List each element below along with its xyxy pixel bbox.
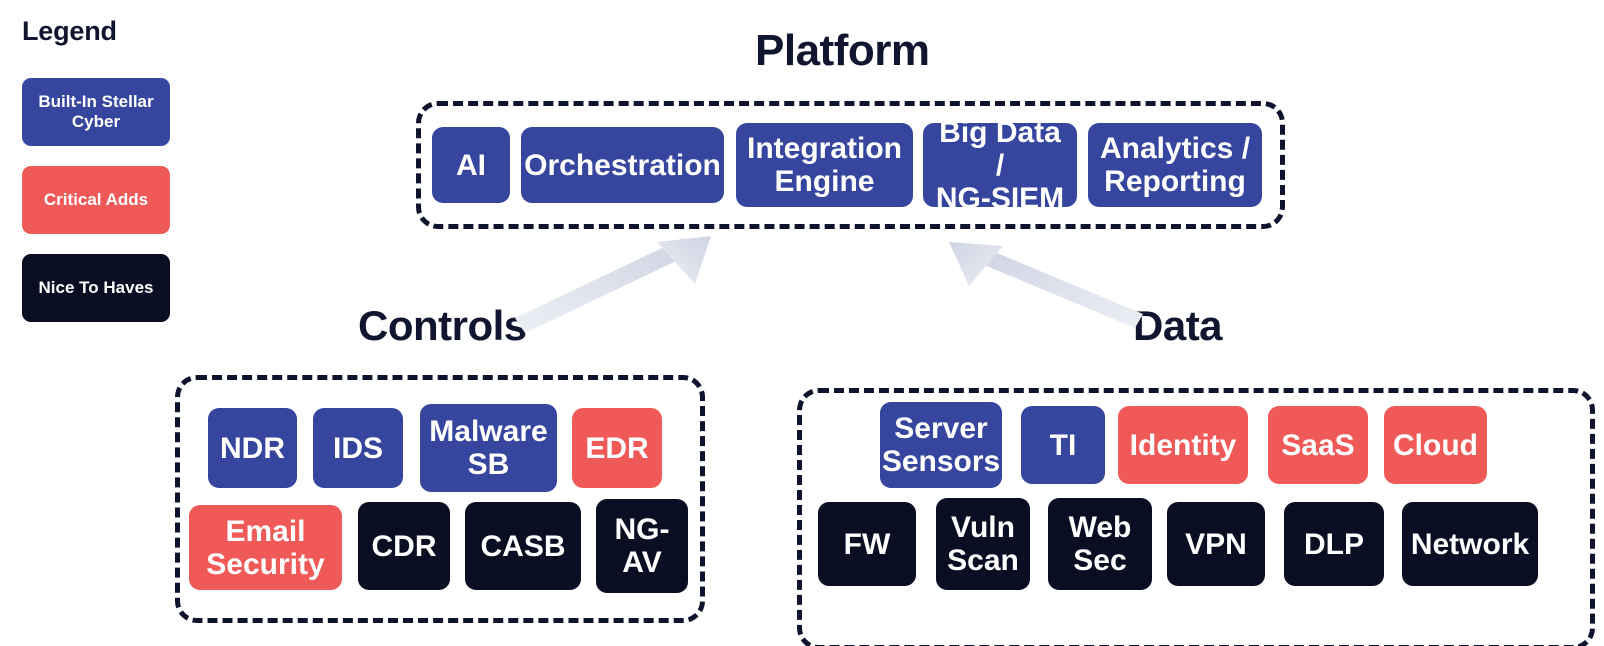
platform-box-orchestration[interactable]: Orchestration	[521, 127, 724, 203]
data-box-server-sensors[interactable]: Server Sensors	[880, 402, 1002, 488]
controls-box-casb[interactable]: CASB	[465, 502, 581, 590]
arrow-controls-to-platform	[515, 236, 715, 336]
data-box-fw[interactable]: FW	[818, 502, 916, 586]
diagram-canvas: Legend Built-In Stellar Cyber Critical A…	[0, 0, 1604, 646]
legend-item-critical-adds: Critical Adds	[22, 166, 170, 234]
data-box-dlp[interactable]: DLP	[1284, 502, 1384, 586]
legend-item-built-in-stellar-cyber: Built-In Stellar Cyber	[22, 78, 170, 146]
data-box-vuln-scan[interactable]: Vuln Scan	[936, 498, 1030, 590]
data-box-web-sec[interactable]: Web Sec	[1048, 498, 1152, 590]
platform-box-big-data-ng-siem[interactable]: Big Data / NG-SIEM	[923, 123, 1077, 207]
controls-box-ng-av[interactable]: NG- AV	[596, 499, 688, 593]
controls-box-email-security[interactable]: Email Security	[189, 505, 342, 590]
data-box-cloud[interactable]: Cloud	[1384, 406, 1487, 484]
data-box-identity[interactable]: Identity	[1118, 406, 1248, 484]
controls-box-malware-sb[interactable]: Malware SB	[420, 404, 557, 492]
controls-box-ids[interactable]: IDS	[313, 408, 403, 488]
data-box-saas[interactable]: SaaS	[1268, 406, 1368, 484]
legend-title: Legend	[22, 16, 117, 47]
controls-box-edr[interactable]: EDR	[572, 408, 662, 488]
data-box-network[interactable]: Network	[1402, 502, 1538, 586]
arrow-data-to-platform	[945, 240, 1145, 330]
controls-section-title: Controls	[358, 302, 527, 350]
platform-box-integration-engine[interactable]: Integration Engine	[736, 123, 913, 207]
data-box-ti[interactable]: TI	[1021, 406, 1105, 484]
controls-box-cdr[interactable]: CDR	[358, 502, 450, 590]
platform-box-analytics-reporting[interactable]: Analytics / Reporting	[1088, 123, 1262, 207]
legend-item-nice-to-haves: Nice To Haves	[22, 254, 170, 322]
platform-section-title: Platform	[755, 26, 929, 76]
data-section-title: Data	[1133, 302, 1222, 350]
platform-box-ai[interactable]: AI	[432, 127, 510, 203]
data-box-vpn[interactable]: VPN	[1167, 502, 1265, 586]
controls-box-ndr[interactable]: NDR	[208, 408, 297, 488]
